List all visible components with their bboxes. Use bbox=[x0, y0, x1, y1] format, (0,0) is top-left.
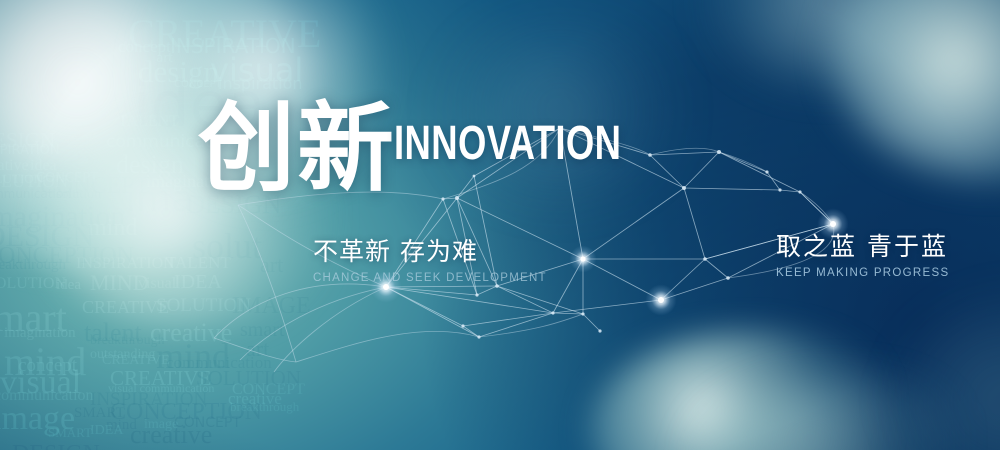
network-arc bbox=[238, 205, 296, 362]
network-node bbox=[383, 284, 389, 290]
page-title: 创新 INNOVATION bbox=[198, 103, 693, 195]
network-edge bbox=[719, 152, 767, 172]
tagline-left: 不革新 存为难 CHANGE AND SEEK DEVELOPMENT bbox=[313, 232, 547, 284]
network-node bbox=[551, 311, 554, 314]
tagline-right-chinese: 取之蓝 青于蓝 bbox=[776, 227, 949, 263]
network-node bbox=[765, 170, 768, 173]
polygon-network-graphic bbox=[0, 0, 1000, 450]
tagline-right: 取之蓝 青于蓝 KEEP MAKING PROGRESS bbox=[776, 227, 949, 279]
headline-english: INNOVATION bbox=[394, 120, 621, 168]
network-node bbox=[703, 257, 707, 261]
network-edge bbox=[684, 188, 780, 190]
network-edge bbox=[497, 286, 583, 314]
network-node bbox=[441, 197, 444, 200]
network-node bbox=[798, 190, 801, 193]
network-node bbox=[495, 284, 499, 288]
network-edge bbox=[386, 286, 497, 287]
network-node bbox=[581, 312, 584, 315]
network-edge bbox=[479, 313, 553, 337]
network-node bbox=[461, 324, 464, 327]
network-edge bbox=[684, 188, 705, 259]
network-node bbox=[580, 256, 585, 261]
network-node bbox=[455, 196, 459, 200]
network-node bbox=[598, 329, 601, 332]
network-edge bbox=[553, 300, 661, 313]
network-arc bbox=[214, 338, 296, 362]
network-arc bbox=[214, 284, 386, 338]
network-node bbox=[477, 335, 480, 338]
network-edge bbox=[583, 188, 684, 259]
network-edge bbox=[705, 259, 728, 278]
network-edge bbox=[477, 286, 497, 295]
network-node bbox=[717, 150, 721, 154]
tagline-left-chinese: 不革新 存为难 bbox=[313, 232, 547, 268]
network-edge bbox=[719, 152, 800, 192]
network-arc bbox=[274, 287, 386, 372]
network-edge bbox=[463, 313, 553, 326]
network-node bbox=[778, 188, 781, 191]
network-edge bbox=[583, 314, 600, 331]
network-edge bbox=[553, 313, 583, 314]
network-arc bbox=[296, 331, 479, 362]
network-node bbox=[475, 293, 478, 296]
network-node bbox=[658, 297, 664, 303]
headline-chinese: 创新 bbox=[198, 103, 396, 195]
innovation-banner: CREATIVEconceptINSPIRATIONdesignvisualar… bbox=[0, 0, 1000, 450]
network-node bbox=[726, 276, 730, 280]
network-arc bbox=[479, 314, 583, 337]
tagline-left-english: CHANGE AND SEEK DEVELOPMENT bbox=[313, 272, 547, 284]
tagline-right-english: KEEP MAKING PROGRESS bbox=[776, 267, 949, 279]
